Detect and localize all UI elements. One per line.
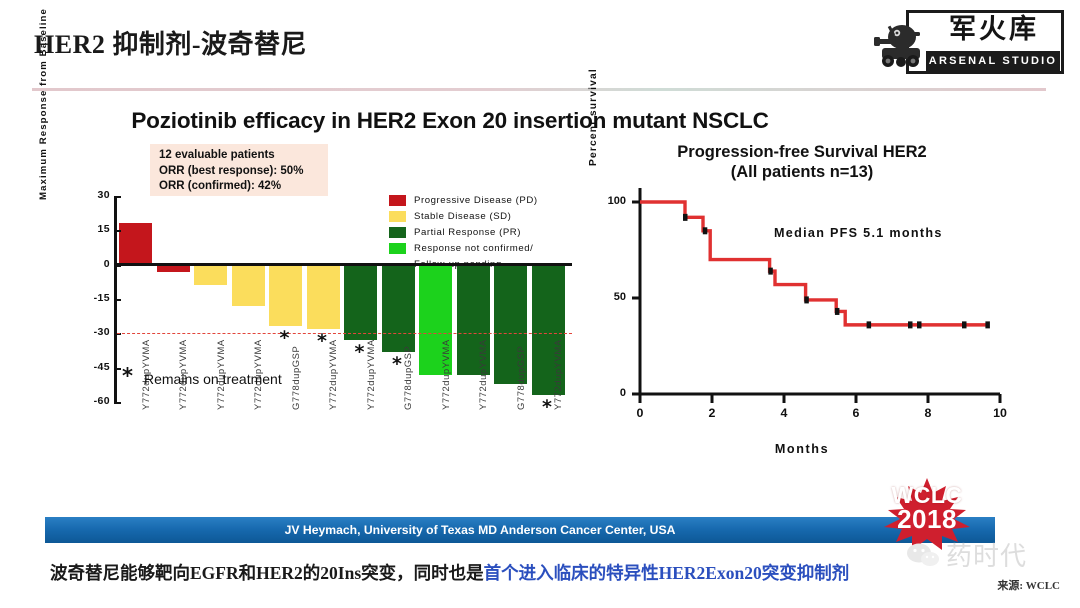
- km-censor-mark: [703, 227, 708, 234]
- km-x-tick-label: 2: [702, 406, 722, 420]
- waterfall-bar: [269, 265, 302, 327]
- waterfall-y-tick: -60: [76, 395, 110, 407]
- waterfall-y-tick: 30: [76, 189, 110, 201]
- remains-on-treatment-star-icon: *: [317, 332, 327, 351]
- km-censor-mark: [835, 308, 840, 315]
- km-y-tick-label: 50: [592, 291, 626, 303]
- km-x-axis-label: Months: [592, 442, 1012, 456]
- remains-on-treatment-star-icon: *: [542, 398, 552, 417]
- km-censor-mark: [768, 268, 773, 275]
- waterfall-zero-line: [117, 263, 572, 266]
- arsenal-studio-logo: 军火库 ARSENAL STUDIO: [866, 6, 1066, 78]
- km-plot-area: [592, 142, 1012, 442]
- waterfall-y-tick: -30: [76, 326, 110, 338]
- waterfall-y-tick: -45: [76, 361, 110, 373]
- km-x-tick-label: 10: [990, 406, 1010, 420]
- info-line-2: ORR (best response): 50%: [159, 164, 320, 180]
- waterfall-x-tick-label: Y772dupYVMA: [365, 396, 376, 410]
- logo-chinese-text: 军火库: [928, 12, 1060, 48]
- km-x-tick-label: 0: [630, 406, 650, 420]
- waterfall-x-tick-label: Y772dupYVMA: [215, 396, 226, 410]
- waterfall-chart: Maximum Response from Baseline 30150-15-…: [44, 196, 574, 516]
- footer-caption: 波奇替尼能够靶向EGFR和HER2的20Ins突变，同时也是首个进入临床的特异性…: [50, 560, 980, 585]
- km-censor-mark: [917, 321, 922, 328]
- waterfall-x-tick-label: Y772dupYVMA: [140, 396, 151, 410]
- waterfall-y-tick: -15: [76, 292, 110, 304]
- waterfall-tick-mark: [114, 402, 121, 404]
- remains-on-treatment-star-icon: *: [392, 355, 402, 374]
- km-censor-mark: [985, 321, 990, 328]
- tank-icon: [872, 20, 928, 70]
- header-divider: [32, 88, 1046, 91]
- waterfall-bar: [119, 223, 152, 264]
- km-censor-mark: [867, 321, 872, 328]
- km-censor-mark: [908, 321, 913, 328]
- waterfall-x-tick-label: Y772dupYVMA: [252, 396, 263, 410]
- waterfall-y-tick: 15: [76, 223, 110, 235]
- remains-on-treatment-star-icon: *: [280, 329, 290, 348]
- km-survival-curve: [640, 202, 989, 325]
- waterfall-bar: [232, 265, 265, 306]
- waterfall-x-tick-label: G778dupGSP: [515, 396, 526, 410]
- waterfall-y-tick: 0: [76, 258, 110, 270]
- waterfall-tick-mark: [114, 368, 121, 370]
- chart-main-title: Poziotinib efficacy in HER2 Exon 20 inse…: [0, 108, 900, 134]
- waterfall-x-tick-label: Y772dupYVMA: [552, 396, 563, 410]
- summary-info-box: 12 evaluable patients ORR (best response…: [150, 144, 328, 196]
- waterfall-bar: [194, 265, 227, 286]
- km-y-tick-label: 0: [592, 387, 626, 399]
- waterfall-x-tick-label: Y772dupYVMA: [440, 396, 451, 410]
- footer-text-blue: 首个进入临床的特异性HER2Exon20突变抑制剂: [484, 563, 850, 583]
- km-y-tick-label: 100: [592, 195, 626, 207]
- footnote-text: Remains on treatment: [144, 371, 282, 387]
- km-x-tick-label: 8: [918, 406, 938, 420]
- waterfall-tick-mark: [114, 230, 121, 232]
- wclc-year: 2018: [862, 506, 992, 532]
- waterfall-tick-mark: [114, 196, 121, 198]
- waterfall-y-ticks: 30150-15-30-45-60: [76, 196, 110, 402]
- waterfall-x-tick-label: Y772dupYVMA: [327, 396, 338, 410]
- km-censor-mark: [962, 321, 967, 328]
- km-x-tick-label: 6: [846, 406, 866, 420]
- slide-root: HER2 抑制剂-波奇替尼 军火库 ARSENAL STUDIO Pozioti…: [0, 0, 1080, 608]
- waterfall-x-tick-label: G778dupGSP: [290, 396, 301, 410]
- km-x-tick-label: 4: [774, 406, 794, 420]
- citation-bar: JV Heymach, University of Texas MD Ander…: [45, 517, 995, 543]
- waterfall-x-tick-label: G778dupGSP: [402, 396, 413, 410]
- source-label: 来源: WCLC: [997, 577, 1060, 593]
- footer-text-black: 波奇替尼能够靶向EGFR和HER2的20Ins突变，同时也是: [50, 563, 484, 583]
- waterfall-bar: [382, 265, 415, 352]
- km-chart: Progression-free Survival HER2 (All pati…: [592, 142, 1012, 472]
- waterfall-bar: [344, 265, 377, 341]
- citation-text: JV Heymach, University of Texas MD Ander…: [45, 517, 915, 543]
- footnote-star-icon: *: [122, 364, 133, 388]
- remains-on-treatment-star-icon: *: [355, 343, 365, 362]
- info-line-3: ORR (confirmed): 42%: [159, 179, 320, 195]
- waterfall-y-axis-label: Maximum Response from Baseline: [38, 4, 49, 204]
- waterfall-reference-line: [117, 333, 572, 334]
- km-censor-mark: [804, 296, 809, 303]
- wclc-logo: WCLC 2018: [862, 476, 992, 550]
- info-line-1: 12 evaluable patients: [159, 148, 320, 164]
- waterfall-x-tick-label: Y772dupYVMA: [477, 396, 488, 410]
- waterfall-tick-mark: [114, 299, 121, 301]
- page-title: HER2 抑制剂-波奇替尼: [34, 24, 307, 61]
- waterfall-bar: [307, 265, 340, 329]
- km-censor-mark: [683, 214, 688, 221]
- waterfall-x-tick-label: Y772dupYVMA: [177, 396, 188, 410]
- logo-english-text: ARSENAL STUDIO: [926, 51, 1060, 71]
